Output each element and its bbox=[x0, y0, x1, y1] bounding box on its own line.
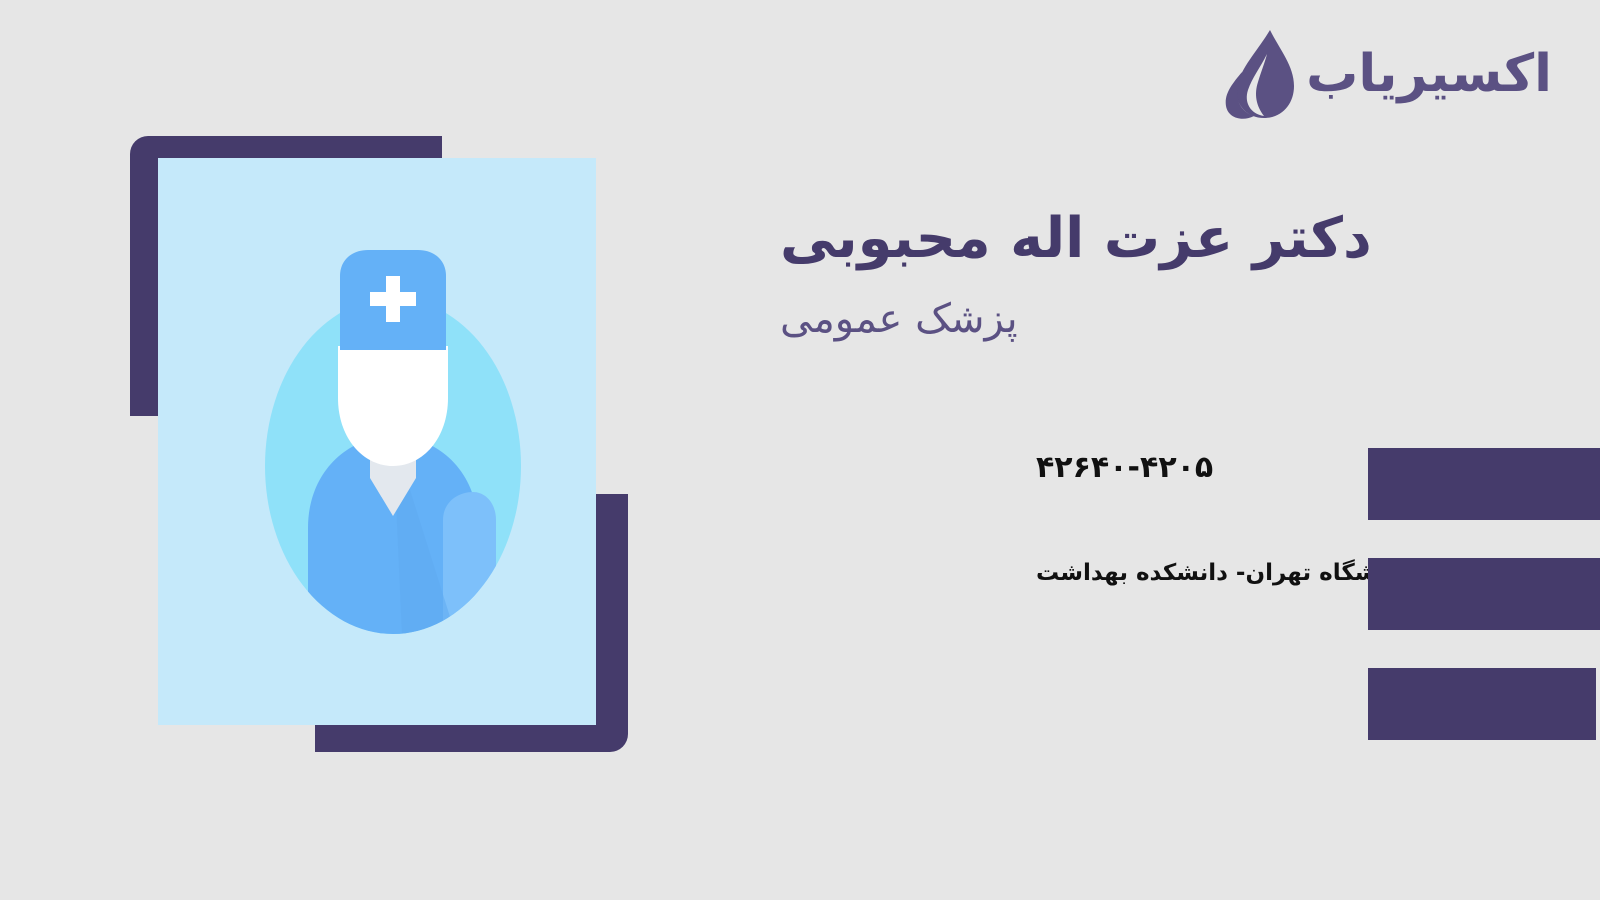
accent-bar-2 bbox=[1368, 558, 1600, 630]
doctor-avatar-icon bbox=[258, 238, 528, 658]
doctor-illustration bbox=[130, 136, 630, 756]
illustration-card bbox=[158, 158, 596, 725]
brand-name: اکسیریاب bbox=[1306, 48, 1552, 100]
accent-bar-1 bbox=[1368, 448, 1600, 520]
doctor-info-block: دکتر عزت اله محبوبی پزشک عمومی ۴۲۶۴۰-۴۲۰… bbox=[780, 205, 1520, 343]
doctor-specialty: پزشک عمومی bbox=[780, 295, 1520, 343]
accent-bar-3 bbox=[1368, 668, 1596, 740]
profile-card-canvas: اکسیریاب bbox=[0, 0, 1600, 900]
page-title: دکتر عزت اله محبوبی bbox=[780, 205, 1520, 273]
flame-droplet-icon bbox=[1220, 28, 1298, 120]
brand-logo[interactable]: اکسیریاب bbox=[1220, 28, 1552, 120]
